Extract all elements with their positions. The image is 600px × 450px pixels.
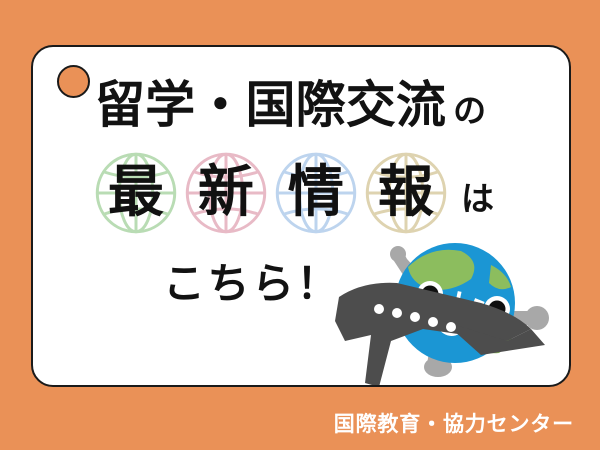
headline-line1-main: 留学・国際交流	[95, 77, 446, 133]
mascot-svg: I E	[331, 237, 571, 387]
banner-root: 留学・国際交流 の 最	[0, 0, 600, 450]
globe-kanji-1: 最	[91, 147, 181, 239]
headline-line-2: 最 新	[91, 147, 494, 239]
kanji-1-label: 最	[108, 162, 164, 224]
headline-line1-particle: の	[453, 83, 486, 139]
kanji-3-label: 情	[288, 162, 344, 224]
white-card: 留学・国際交流 の 最	[31, 45, 571, 387]
globe-kanji-2: 新	[181, 147, 271, 239]
mascot-illustration: I E	[331, 237, 571, 387]
kanji-2-label: 新	[198, 162, 254, 224]
globe-kanji-4: 報	[361, 147, 451, 239]
headline-line2-particle: は	[461, 168, 494, 230]
headline-line-3: こちら！	[163, 253, 341, 315]
headline-line-1: 留学・国際交流 の	[95, 74, 486, 136]
kanji-4-label: 報	[378, 162, 434, 224]
globe-kanji-3: 情	[271, 147, 361, 239]
footer-organization-label: 国際教育・協力センター	[334, 408, 574, 438]
